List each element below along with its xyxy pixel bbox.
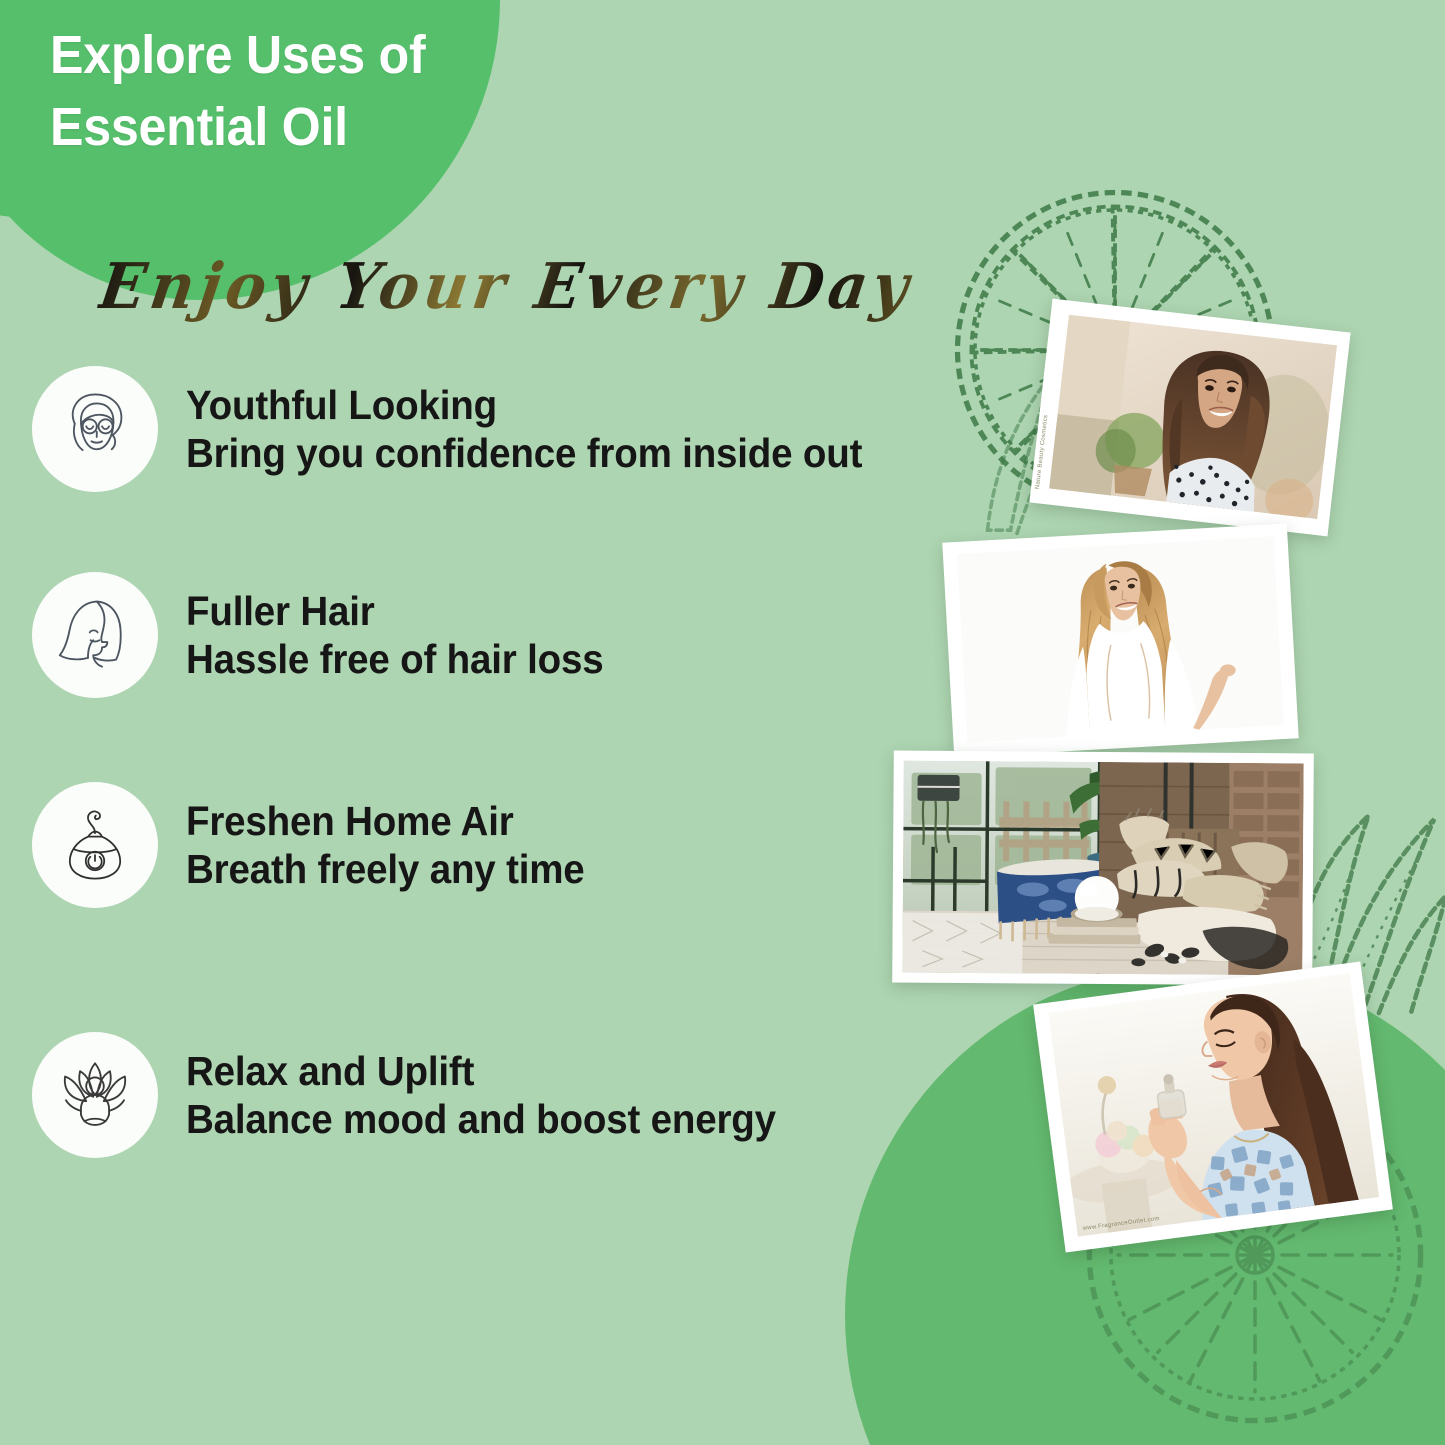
feature-text-block: Relax and Uplift Balance mood and boost … xyxy=(186,1047,814,1144)
feature-subtitle: Breath freely any time xyxy=(186,845,585,893)
photo-caption: Nature Beauty Cosmetics xyxy=(1035,414,1049,489)
poster-canvas: Explore Uses of Essential Oil Enjoy Your… xyxy=(0,0,1445,1445)
script-subtitle: Enjoy Your Every Day xyxy=(95,250,918,324)
photo-image xyxy=(1048,973,1379,1237)
long-hair-profile-icon-badge xyxy=(32,572,158,698)
feature-text-block: Youthful Looking Bring you confidence fr… xyxy=(186,381,905,478)
feature-row-fuller-hair: Fuller Hair Hassle free of hair loss xyxy=(32,572,630,698)
aroma-diffuser-icon-badge xyxy=(32,782,158,908)
aroma-diffuser-icon xyxy=(53,803,137,887)
feature-text-block: Fuller Hair Hassle free of hair loss xyxy=(186,587,630,684)
photo-woman-perfume: www.FragranceOutlet.com xyxy=(1033,962,1393,1253)
long-hair-profile-icon xyxy=(51,591,139,679)
feature-subtitle: Hassle free of hair loss xyxy=(186,635,603,683)
feature-text-block: Freshen Home Air Breath freely any time xyxy=(186,797,610,894)
feature-subtitle: Balance mood and boost energy xyxy=(186,1095,776,1143)
photo-image xyxy=(1049,315,1337,519)
photo-image xyxy=(902,761,1303,976)
feature-title: Fuller Hair xyxy=(186,587,603,635)
feature-title: Freshen Home Air xyxy=(186,797,585,845)
feature-title: Relax and Uplift xyxy=(186,1047,776,1095)
face-mask-icon-badge xyxy=(32,366,158,492)
lotus-meditation-icon-badge xyxy=(32,1032,158,1158)
feature-row-relax-and-uplift: Relax and Uplift Balance mood and boost … xyxy=(32,1032,814,1158)
photo-long-wavy-hair xyxy=(942,524,1298,758)
photo-living-room-diffuser xyxy=(892,751,1314,986)
feature-row-youthful-looking: Youthful Looking Bring you confidence fr… xyxy=(32,366,905,492)
face-mask-icon xyxy=(51,385,139,473)
lotus-meditation-icon xyxy=(51,1051,139,1139)
feature-row-freshen-home-air: Freshen Home Air Breath freely any time xyxy=(32,782,610,908)
page-title: Explore Uses of Essential Oil xyxy=(50,20,425,164)
feature-title: Youthful Looking xyxy=(186,381,862,429)
feature-subtitle: Bring you confidence from inside out xyxy=(186,429,862,477)
photo-image xyxy=(957,536,1284,742)
photo-smiling-woman: Nature Beauty Cosmetics xyxy=(1029,299,1350,537)
